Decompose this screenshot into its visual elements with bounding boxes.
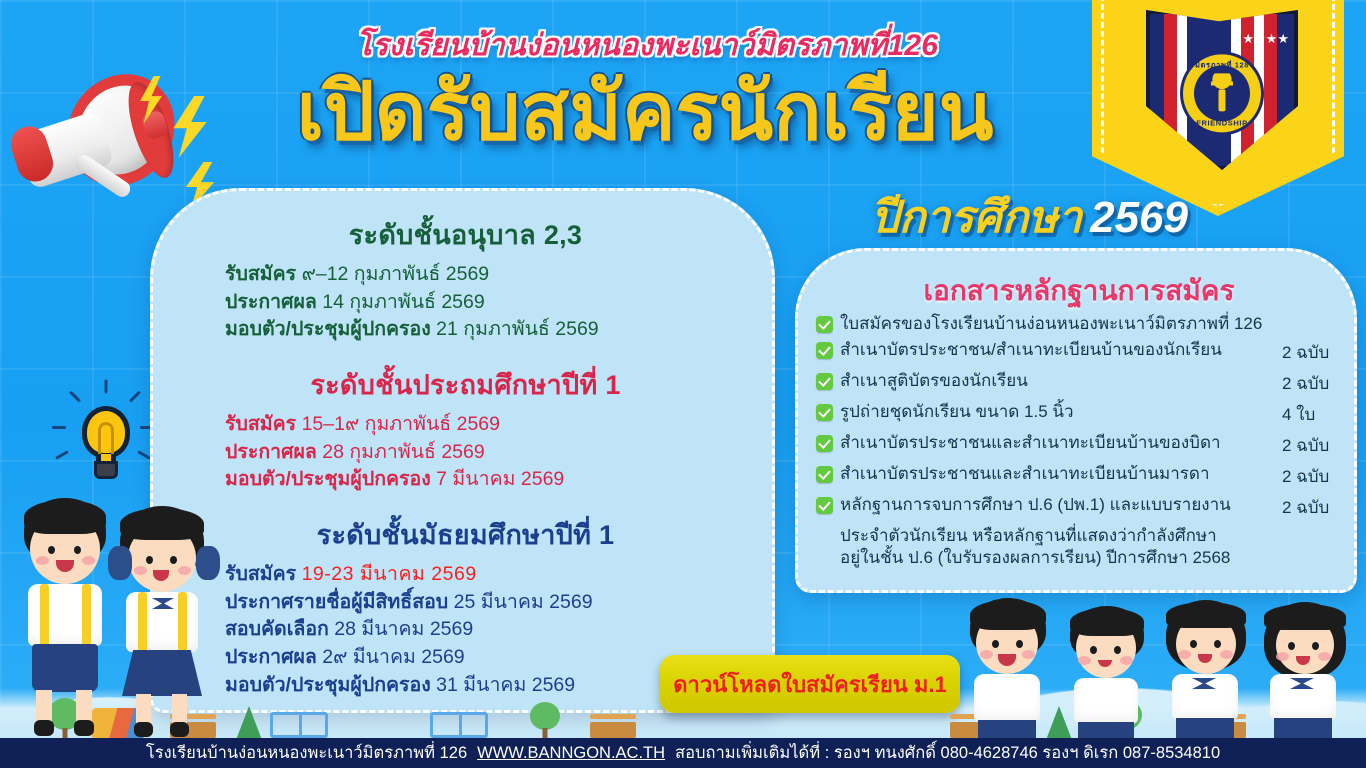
document-item: สำเนาบัตรประชาชนและสำเนาทะเบียนบ้านมารดา…: [816, 463, 1346, 490]
check-icon: [816, 373, 833, 390]
poster-root: โรงเรียนบ้านง่อนหนองพะเนาว์มิตรภาพที่126…: [0, 0, 1366, 768]
academic-year-value: 2569: [1090, 193, 1188, 242]
schedule-label: ประกาศผล: [225, 291, 317, 313]
document-text: สำเนาบัตรประชาชน/สำเนาทะเบียนบ้านของนักเ…: [840, 339, 1278, 361]
schedule-row: ประกาศผล 28 กุมภาพันธ์ 2569: [225, 439, 778, 467]
emblem-bottom-text: FRIENDSHIP: [1183, 118, 1261, 127]
schedule-value: 2๙ มีนาคม 2569: [322, 646, 464, 668]
download-button-label: ดาวน์โหลดใบสมัครเรียน ม.1: [673, 667, 947, 702]
schedule-value: 28 มีนาคม 2569: [334, 618, 473, 640]
schedule-value: 15–1๙ กุมภาพันธ์ 2569: [302, 413, 500, 435]
level-block: ระดับชั้นประถมศึกษาปีที่ 1รับสมัคร 15–1๙…: [153, 363, 778, 494]
document-quantity: 2 ฉบับ: [1278, 339, 1346, 366]
student-character-1: [960, 598, 1064, 740]
document-text: สำเนาสูติบัตรของนักเรียน: [840, 370, 1278, 392]
emblem-roundel: มิตรภาพที่ 128 FRIENDSHIP: [1180, 51, 1264, 135]
torch-icon: [1211, 73, 1233, 111]
schedule-value: ๙–12 กุมภาพันธ์ 2569: [302, 263, 490, 285]
student-character-3: [1158, 600, 1262, 740]
document-text: สำเนาบัตรประชาชนและสำเนาทะเบียนบ้านของบิ…: [840, 432, 1278, 454]
document-quantity: 2 ฉบับ: [1278, 494, 1346, 521]
level-block: ระดับชั้นอนุบาล 2,3รับสมัคร ๙–12 กุมภาพั…: [153, 213, 778, 344]
schedule-value: 14 กุมภาพันธ์ 2569: [322, 291, 484, 313]
page-title: เปิดรับสมัครนักเรียน: [200, 72, 1090, 152]
check-icon: [816, 435, 833, 452]
schedule-value: 25 มีนาคม 2569: [454, 591, 593, 613]
schedule-label: มอบตัว/ประชุมผู้ปกครอง: [225, 468, 431, 490]
schedule-row: รับสมัคร ๙–12 กุมภาพันธ์ 2569: [225, 261, 778, 289]
emblem-stars: ★★★★: [1242, 32, 1289, 45]
document-text: หลักฐานการจบการศึกษา ป.6 (ปพ.1) และแบบรา…: [840, 494, 1278, 516]
check-icon: [816, 342, 833, 359]
footer-bar: โรงเรียนบ้านง่อนหนองพะเนาว์มิตรภาพที่ 12…: [0, 738, 1366, 768]
schedule-row: มอบตัว/ประชุมผู้ปกครอง 21 กุมภาพันธ์ 256…: [225, 316, 778, 344]
document-text-continued: อยู่ในชั้น ป.6 (ใบรับรองผลการเรียน) ปีกา…: [816, 547, 1346, 569]
document-text-continued: ประจำตัวนักเรียน หรือหลักฐานที่แสดงว่ากำ…: [816, 525, 1346, 547]
lightbulb-icon: [56, 388, 156, 498]
schedule-value: 19-23 มีนาคม 2569: [302, 563, 477, 585]
document-text: ใบสมัครของโรงเรียนบ้านง่อนหนองพะเนาว์มิต…: [840, 313, 1278, 335]
document-item: ใบสมัครของโรงเรียนบ้านง่อนหนองพะเนาว์มิต…: [816, 313, 1346, 335]
document-quantity: 2 ฉบับ: [1278, 432, 1346, 459]
level-title: ระดับชั้นอนุบาล 2,3: [153, 213, 778, 256]
documents-panel: เอกสารหลักฐานการสมัคร ใบสมัครของโรงเรียน…: [795, 248, 1357, 593]
schedule-row: มอบตัว/ประชุมผู้ปกครอง 7 มีนาคม 2569: [225, 466, 778, 494]
schedule-label: มอบตัว/ประชุมผู้ปกครอง: [225, 318, 431, 340]
document-quantity: 4 ใบ: [1278, 401, 1346, 428]
schedule-label: สอบคัดเลือก: [225, 618, 329, 640]
documents-list: ใบสมัครของโรงเรียนบ้านง่อนหนองพะเนาว์มิต…: [816, 313, 1346, 569]
school-name-title: โรงเรียนบ้านง่อนหนองพะเนาว์มิตรภาพที่126: [232, 22, 1062, 69]
academic-year: ปีการศึกษา2569: [871, 182, 1188, 252]
footer-contact: สอบถามเพิ่มเติมได้ที่ : รองฯ ทนงศักดิ์ 0…: [675, 740, 1220, 766]
park-scenery-mid: [420, 692, 680, 740]
student-character-4: [1256, 602, 1360, 740]
student-character-girl: [108, 506, 228, 738]
document-item: รูปถ่ายชุดนักเรียน ขนาด 1.5 นิ้ว4 ใบ: [816, 401, 1346, 428]
footer-website-link[interactable]: WWW.BANNGON.AC.TH: [477, 744, 665, 763]
schedule-row: รับสมัคร 15–1๙ กุมภาพันธ์ 2569: [225, 411, 778, 439]
schedule-value: 28 กุมภาพันธ์ 2569: [322, 441, 484, 463]
document-item: สำเนาบัตรประชาชน/สำเนาทะเบียนบ้านของนักเ…: [816, 339, 1346, 366]
schedule-label: ประกาศรายชื่อผู้มีสิทธิ์สอบ: [225, 591, 448, 613]
schedule-row: ประกาศผล 14 กุมภาพันธ์ 2569: [225, 289, 778, 317]
schedule-value: 7 มีนาคม 2569: [436, 468, 564, 490]
document-item: หลักฐานการจบการศึกษา ป.6 (ปพ.1) และแบบรา…: [816, 494, 1346, 569]
level-title: ระดับชั้นประถมศึกษาปีที่ 1: [153, 363, 778, 406]
check-icon: [816, 316, 833, 333]
document-item: สำเนาสูติบัตรของนักเรียน2 ฉบับ: [816, 370, 1346, 397]
document-text: สำเนาบัตรประชาชนและสำเนาทะเบียนบ้านมารดา: [840, 463, 1278, 485]
schedule-panel: ระดับชั้นอนุบาล 2,3รับสมัคร ๙–12 กุมภาพั…: [150, 188, 775, 713]
megaphone-icon: [6, 50, 196, 210]
document-quantity: 2 ฉบับ: [1278, 463, 1346, 490]
academic-year-label: ปีการศึกษา: [871, 193, 1082, 242]
student-character-2: [1060, 606, 1164, 740]
check-icon: [816, 497, 833, 514]
check-icon: [816, 404, 833, 421]
document-text: รูปถ่ายชุดนักเรียน ขนาด 1.5 นิ้ว: [840, 401, 1278, 423]
document-quantity: 2 ฉบับ: [1278, 370, 1346, 397]
download-application-button[interactable]: ดาวน์โหลดใบสมัครเรียน ม.1: [660, 655, 960, 713]
level-title: ระดับชั้นมัธยมศึกษาปีที่ 1: [153, 513, 778, 556]
schedule-label: ประกาศผล: [225, 646, 317, 668]
documents-title: เอกสารหลักฐานการสมัคร: [798, 269, 1360, 313]
schedule-value: 21 กุมภาพันธ์ 2569: [436, 318, 598, 340]
schedule-label: ประกาศผล: [225, 441, 317, 463]
document-item: สำเนาบัตรประชาชนและสำเนาทะเบียนบ้านของบิ…: [816, 432, 1346, 459]
footer-school-name: โรงเรียนบ้านง่อนหนองพะเนาว์มิตรภาพที่ 12…: [146, 740, 467, 766]
schedule-label: รับสมัคร: [225, 263, 296, 285]
schedule-label: รับสมัคร: [225, 413, 296, 435]
schedule-label: รับสมัคร: [225, 563, 296, 585]
schedule-row: รับสมัคร 19-23 มีนาคม 2569: [225, 561, 778, 589]
schedule-row: สอบคัดเลือก 28 มีนาคม 2569: [225, 616, 778, 644]
check-icon: [816, 466, 833, 483]
schedule-row: ประกาศรายชื่อผู้มีสิทธิ์สอบ 25 มีนาคม 25…: [225, 589, 778, 617]
